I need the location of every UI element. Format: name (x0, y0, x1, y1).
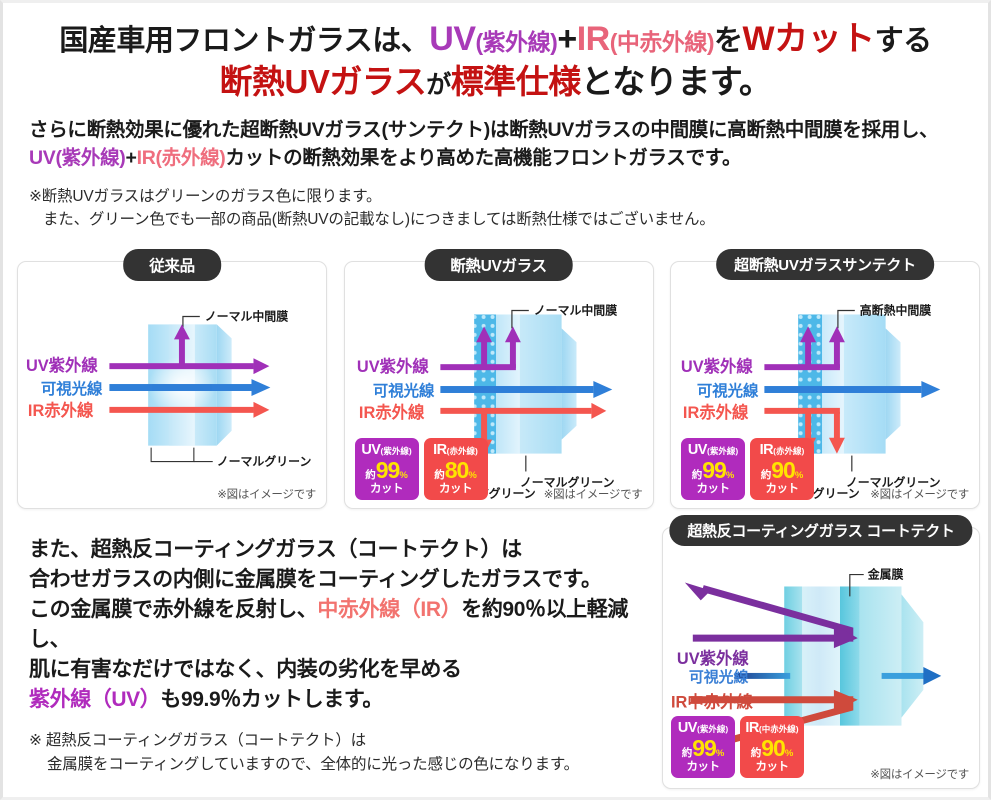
ray-label-ir: IR中赤外線 (671, 693, 754, 712)
headline-line-2: 断熱UVガラスが標準仕様となります。 (3, 63, 988, 102)
disclaimer-line-1: ※断熱UVガラスはグリーンのガラス色に限ります。 (29, 185, 962, 208)
image-note-suntect: ※図はイメージです (870, 486, 969, 502)
para-ir: IR(赤外線) (137, 147, 226, 169)
disclaimer-line-2: また、グリーン色でも一部の商品(断熱UVの記載なし)につきましては断熱仕様ではご… (29, 208, 962, 231)
headline-seg-intro: 国産車用フロントガラスは、 (59, 25, 429, 57)
callout-normal-green: ノーマルグリーン (217, 455, 312, 469)
para-rest: カットの断熱効果をより高めた高機能フロントガラスです。 (225, 147, 741, 169)
callout-normal-interlayer: ノーマル中間膜 (533, 303, 616, 317)
badge-ir-cut: IR(赤外線) 約90% カット (750, 438, 814, 500)
ray-label-uv: UV紫外線 (681, 357, 753, 376)
badge-uv-percent: % (726, 471, 734, 481)
headline-line-1: 国産車用フロントガラスは、UV(紫外線)+IR(中赤外線)をWカットする (3, 19, 988, 59)
callout-high-insulation-interlayer: 高断熱中間膜 (860, 303, 932, 317)
coat-tect-l5-b: も99.9％カットします。 (160, 688, 383, 711)
headline-seg-uv-paren: (紫外線) (476, 29, 558, 55)
coat-tect-line-5: 紫外線（UV）も99.9％カットします。 (29, 685, 649, 715)
intro-paragraph-line-1: さらに断熱効果に優れた超断熱UVガラス(サンテクト)は断熱UVガラスの中間膜に高… (29, 116, 962, 144)
badge-uv-approx: 約 (682, 748, 693, 759)
badge-uv-percent: % (716, 749, 724, 759)
coat-tect-line-3: この金属膜で赤外線を反射し、中赤外線（IR）を約90％以上軽減し、 (29, 595, 649, 655)
badge-ir-label: IR (745, 721, 759, 736)
coat-tect-note-line-2: 金属膜をコーティングしていますので、全体的に光った感じの色になります。 (29, 753, 649, 777)
headline-seg-plus: + (557, 20, 576, 58)
badge-ir-paren: (赤外線) (773, 447, 804, 456)
infographic-page: 国産車用フロントガラスは、UV(紫外線)+IR(中赤外線)をWカットする 断熱U… (0, 0, 991, 800)
comparison-panels: 従来品 (17, 261, 980, 509)
headline-seg-ir: IR (577, 20, 610, 58)
badge-ir-cut-text: カット (766, 484, 799, 496)
headline: 国産車用フロントガラスは、UV(紫外線)+IR(中赤外線)をWカットする 断熱U… (3, 3, 988, 102)
disclaimer-note: ※断熱UVガラスはグリーンのガラス色に限ります。 また、グリーン色でも一部の商品… (29, 185, 962, 232)
panel-suntect: 超断熱UVガラスサンテクト (670, 261, 980, 509)
badge-uv-number: 99 (702, 459, 726, 482)
badge-uv-paren: (紫外線) (707, 447, 738, 456)
badge-ir-paren: (中赤外線) (759, 725, 799, 734)
panel-coat-tect-wrapper: 超熱反コーティングガラス コートテクト (662, 527, 980, 789)
coat-tect-l3-ir: 中赤外線（IR） (317, 598, 461, 621)
badge-uv-label: UV (678, 721, 697, 736)
image-note-conventional: ※図はイメージです (217, 486, 316, 502)
ray-label-ir: IR赤外線 (358, 403, 424, 422)
badge-uv-paren: (紫外線) (380, 447, 411, 456)
badge-uv-cut-text: カット (697, 484, 730, 496)
callout-normal-interlayer: ノーマル中間膜 (205, 309, 288, 323)
badge-ir-approx: 約 (751, 748, 762, 759)
cut-badges-suntect: UV(紫外線) 約99% カット IR(赤外線) 約90% カット (681, 438, 814, 500)
badge-ir-label: IR (433, 443, 447, 458)
headline-seg-wcut: Wカット (743, 20, 875, 58)
coat-tect-note: ※ 超熱反コーティングガラス（コートテクト）は 金属膜をコーティングしていますの… (29, 729, 649, 777)
diagram-conventional: ノーマル中間膜 ノーマルグリーン UV紫外線 (18, 276, 326, 504)
coat-tect-l5-uv: 紫外線（UV） (29, 688, 160, 711)
badge-uv-cut-text: カット (687, 762, 720, 774)
coat-tect-line-4: 肌に有害なだけではなく、内装の劣化を早める (29, 655, 649, 685)
headline-seg-insulating-glass: 断熱UVガラス (220, 63, 427, 100)
image-note-coat-tect: ※図はイメージです (870, 766, 969, 782)
headline-seg-wo: を (714, 25, 743, 57)
ray-label-visible: 可視光線 (372, 381, 434, 400)
badge-ir-percent: % (468, 471, 476, 481)
badge-ir-label: IR (760, 443, 774, 458)
ray-label-uv: UV紫外線 (356, 357, 428, 376)
headline-seg-ir-paren: (中赤外線) (610, 29, 714, 55)
badge-uv-cut: UV(紫外線) 約99% カット (681, 438, 745, 500)
badge-uv-approx: 約 (365, 470, 376, 481)
headline-seg-suru: する (875, 25, 932, 57)
callout-metal-film: 金属膜 (867, 568, 904, 582)
intro-paragraph-line-2: UV(紫外線)+IR(赤外線)カットの断熱効果をより高めた高機能フロントガラスで… (29, 144, 962, 172)
headline-seg-standard: 標準仕様 (451, 63, 581, 100)
headline-seg-ga: が (426, 71, 451, 99)
badge-ir-number: 90 (761, 737, 785, 760)
badge-ir-cut: IR(赤外線) 約80% カット (424, 438, 488, 500)
ray-label-ir: IR赤外線 (683, 403, 749, 422)
badge-ir-approx: 約 (761, 470, 772, 481)
coat-tect-note-line-1: ※ 超熱反コーティングガラス（コートテクト）は (29, 729, 649, 753)
coat-tect-description: また、超熱反コーティングガラス（コートテクト）は 合わせガラスの内側に金属膜をコ… (29, 535, 649, 777)
badge-ir-number: 90 (771, 459, 795, 482)
headline-seg-uv: UV (429, 20, 475, 58)
badge-uv-paren: (紫外線) (697, 725, 728, 734)
badge-uv-cut: UV(紫外線) 約99% カット (355, 438, 419, 500)
panel-conventional: 従来品 (17, 261, 327, 509)
ray-label-ir: IR赤外線 (28, 401, 94, 420)
badge-uv-cut-text: カット (370, 484, 403, 496)
badge-uv-number: 99 (692, 737, 716, 760)
cut-badges-coat-tect: UV(紫外線) 約99% カット IR(中赤外線) 約90% カット (671, 716, 804, 778)
ray-label-visible: 可視光線 (41, 379, 103, 398)
ray-label-uv: UV紫外線 (26, 356, 98, 375)
panel-insulating-uv: 断熱UVガラス (344, 261, 654, 509)
badge-ir-percent: % (785, 749, 793, 759)
badge-ir-cut-text: カット (439, 484, 472, 496)
badge-uv-label: UV (361, 443, 380, 458)
badge-uv-cut: UV(紫外線) 約99% カット (671, 716, 735, 778)
coat-tect-l3-a: この金属膜で赤外線を反射し、 (29, 598, 317, 621)
cut-badges-insulating-uv: UV(紫外線) 約99% カット IR(赤外線) 約80% カット (355, 438, 488, 500)
coat-tect-line-1: また、超熱反コーティングガラス（コートテクト）は (29, 535, 649, 565)
coat-tect-line-2: 合わせガラスの内側に金属膜をコーティングしたガラスです。 (29, 565, 649, 595)
para-plus: + (125, 147, 136, 169)
ray-label-visible: 可視光線 (697, 381, 759, 400)
para-uv: UV(紫外線) (29, 147, 125, 169)
badge-uv-label: UV (688, 443, 707, 458)
ray-label-uv: UV紫外線 (677, 649, 749, 668)
panel-coat-tect: 超熱反コーティングガラス コートテクト (662, 527, 980, 789)
badge-ir-percent: % (795, 471, 803, 481)
badge-ir-number: 80 (445, 459, 469, 482)
badge-uv-percent: % (399, 471, 407, 481)
badge-ir-approx: 約 (434, 470, 445, 481)
badge-uv-approx: 約 (692, 470, 703, 481)
image-note-insulating-uv: ※図はイメージです (544, 486, 643, 502)
badge-ir-paren: (赤外線) (447, 447, 478, 456)
headline-seg-tail: となります。 (581, 63, 772, 100)
ray-label-visible: 可視光線 (689, 668, 749, 686)
intro-paragraph: さらに断熱効果に優れた超断熱UVガラス(サンテクト)は断熱UVガラスの中間膜に高… (29, 116, 962, 173)
badge-ir-cut: IR(中赤外線) 約90% カット (740, 716, 804, 778)
badge-uv-number: 99 (376, 459, 400, 482)
badge-ir-cut-text: カット (756, 762, 789, 774)
